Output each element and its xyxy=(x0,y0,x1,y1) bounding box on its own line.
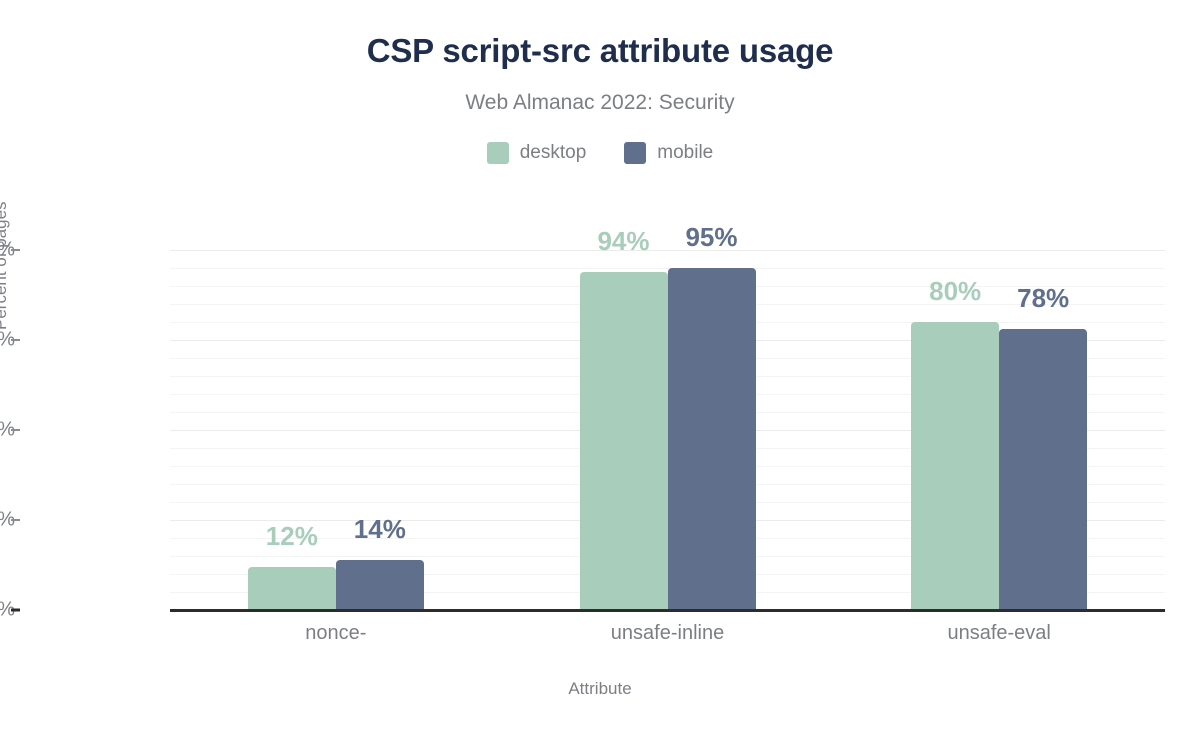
bar-chart: CSP script-src attribute usage Web Alman… xyxy=(0,0,1200,742)
y-axis-tick-mark xyxy=(11,609,20,612)
bar-desktop-nonce-[interactable] xyxy=(248,567,336,610)
y-axis-tick-mark xyxy=(11,429,20,431)
bar-value-label-mobile-unsafe-eval: 78% xyxy=(987,283,1099,314)
chart-legend: desktopmobile xyxy=(0,142,1200,164)
bar-value-label-mobile-unsafe-inline: 95% xyxy=(656,222,768,253)
gridline xyxy=(170,268,1165,269)
legend-label-desktop: desktop xyxy=(520,142,587,164)
x-axis-baseline xyxy=(170,609,1165,612)
legend-label-mobile: mobile xyxy=(657,142,713,164)
x-axis-title: Attribute xyxy=(0,679,1200,699)
legend-swatch-desktop xyxy=(487,142,509,164)
y-axis-tick-mark xyxy=(11,519,20,521)
x-axis-tick-label-unsafe-eval: unsafe-eval xyxy=(947,622,1050,645)
bar-mobile-nonce-[interactable] xyxy=(336,560,424,610)
x-axis-tick-label-nonce-: nonce- xyxy=(305,622,366,645)
bar-mobile-unsafe-inline[interactable] xyxy=(668,268,756,610)
bar-value-label-mobile-nonce-: 14% xyxy=(324,514,436,545)
legend-item-mobile[interactable]: mobile xyxy=(624,142,713,164)
x-axis-tick-label-unsafe-inline: unsafe-inline xyxy=(611,622,724,645)
bar-desktop-unsafe-inline[interactable] xyxy=(580,272,668,610)
y-axis-tick-mark xyxy=(11,249,20,251)
legend-item-desktop[interactable]: desktop xyxy=(487,142,587,164)
legend-swatch-mobile xyxy=(624,142,646,164)
chart-title: CSP script-src attribute usage xyxy=(0,32,1200,70)
y-axis-tick-mark xyxy=(11,339,20,341)
bar-mobile-unsafe-eval[interactable] xyxy=(999,329,1087,610)
chart-subtitle: Web Almanac 2022: Security xyxy=(0,91,1200,115)
y-axis-title: Percent of pages xyxy=(0,201,11,330)
bar-desktop-unsafe-eval[interactable] xyxy=(911,322,999,610)
